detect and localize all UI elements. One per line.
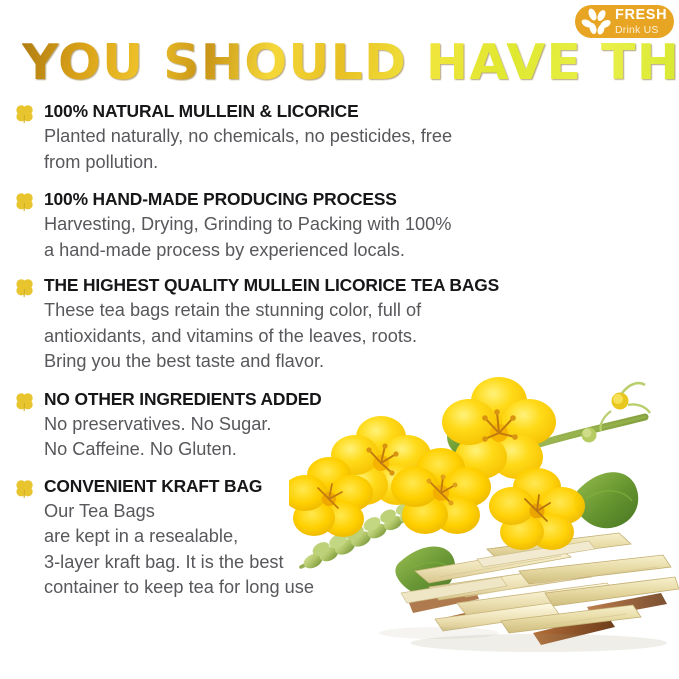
- leaf-cluster-icon: [580, 7, 614, 37]
- feature-item: 100% HAND-MADE PRODUCING PROCESS Harvest…: [14, 188, 674, 263]
- feature-body-line: are kept in a resealable,: [44, 524, 674, 550]
- feature-list: 100% NATURAL MULLEIN & LICORICE Planted …: [14, 100, 674, 612]
- clover-bullet-icon: [14, 391, 35, 412]
- feature-body-line: 3-layer kraft bag. It is the best: [44, 550, 674, 576]
- feature-body-line: Planted naturally, no chemicals, no pest…: [44, 124, 674, 150]
- feature-item: THE HIGHEST QUALITY MULLEIN LICORICE TEA…: [14, 274, 674, 375]
- feature-body: Harvesting, Drying, Grinding to Packing …: [44, 212, 674, 263]
- feature-body-line: No Caffeine. No Gluten.: [44, 437, 674, 463]
- feature-body-line: No preservatives. No Sugar.: [44, 412, 674, 438]
- page-title: YOU SHOULD HAVE THIS!: [22, 34, 679, 91]
- feature-item: 100% NATURAL MULLEIN & LICORICE Planted …: [14, 100, 674, 175]
- feature-item: NO OTHER INGREDIENTS ADDED No preservati…: [14, 388, 674, 463]
- clover-bullet-icon: [14, 103, 35, 124]
- brand-name: FRESH: [615, 8, 667, 23]
- clover-bullet-icon: [14, 478, 35, 499]
- feature-body-line: antioxidants, and vitamins of the leaves…: [44, 324, 674, 350]
- feature-item: CONVENIENT KRAFT BAG Our Tea Bags are ke…: [14, 475, 674, 601]
- infographic-page: FRESH Drink US YOU SHOULD HAVE THIS! 10: [0, 0, 679, 679]
- feature-body-line: These tea bags retain the stunning color…: [44, 298, 674, 324]
- feature-body-line: container to keep tea for long use: [44, 575, 674, 601]
- feature-body: Our Tea Bags are kept in a resealable, 3…: [44, 499, 674, 601]
- feature-title: CONVENIENT KRAFT BAG: [44, 475, 674, 497]
- feature-body-line: Harvesting, Drying, Grinding to Packing …: [44, 212, 674, 238]
- feature-title: NO OTHER INGREDIENTS ADDED: [44, 388, 674, 410]
- feature-body-line: from pollution.: [44, 150, 674, 176]
- clover-bullet-icon: [14, 191, 35, 212]
- feature-body-line: Our Tea Bags: [44, 499, 674, 525]
- feature-title: THE HIGHEST QUALITY MULLEIN LICORICE TEA…: [44, 274, 674, 296]
- feature-body: Planted naturally, no chemicals, no pest…: [44, 124, 674, 175]
- clover-bullet-icon: [14, 277, 35, 298]
- brand-wordmark: FRESH Drink US: [615, 8, 667, 35]
- feature-body: These tea bags retain the stunning color…: [44, 298, 674, 375]
- feature-body-line: Bring you the best taste and flavor.: [44, 349, 674, 375]
- feature-body-line: a hand-made process by experienced local…: [44, 238, 674, 264]
- feature-title: 100% HAND-MADE PRODUCING PROCESS: [44, 188, 674, 210]
- feature-body: No preservatives. No Sugar. No Caffeine.…: [44, 412, 674, 463]
- feature-title: 100% NATURAL MULLEIN & LICORICE: [44, 100, 674, 122]
